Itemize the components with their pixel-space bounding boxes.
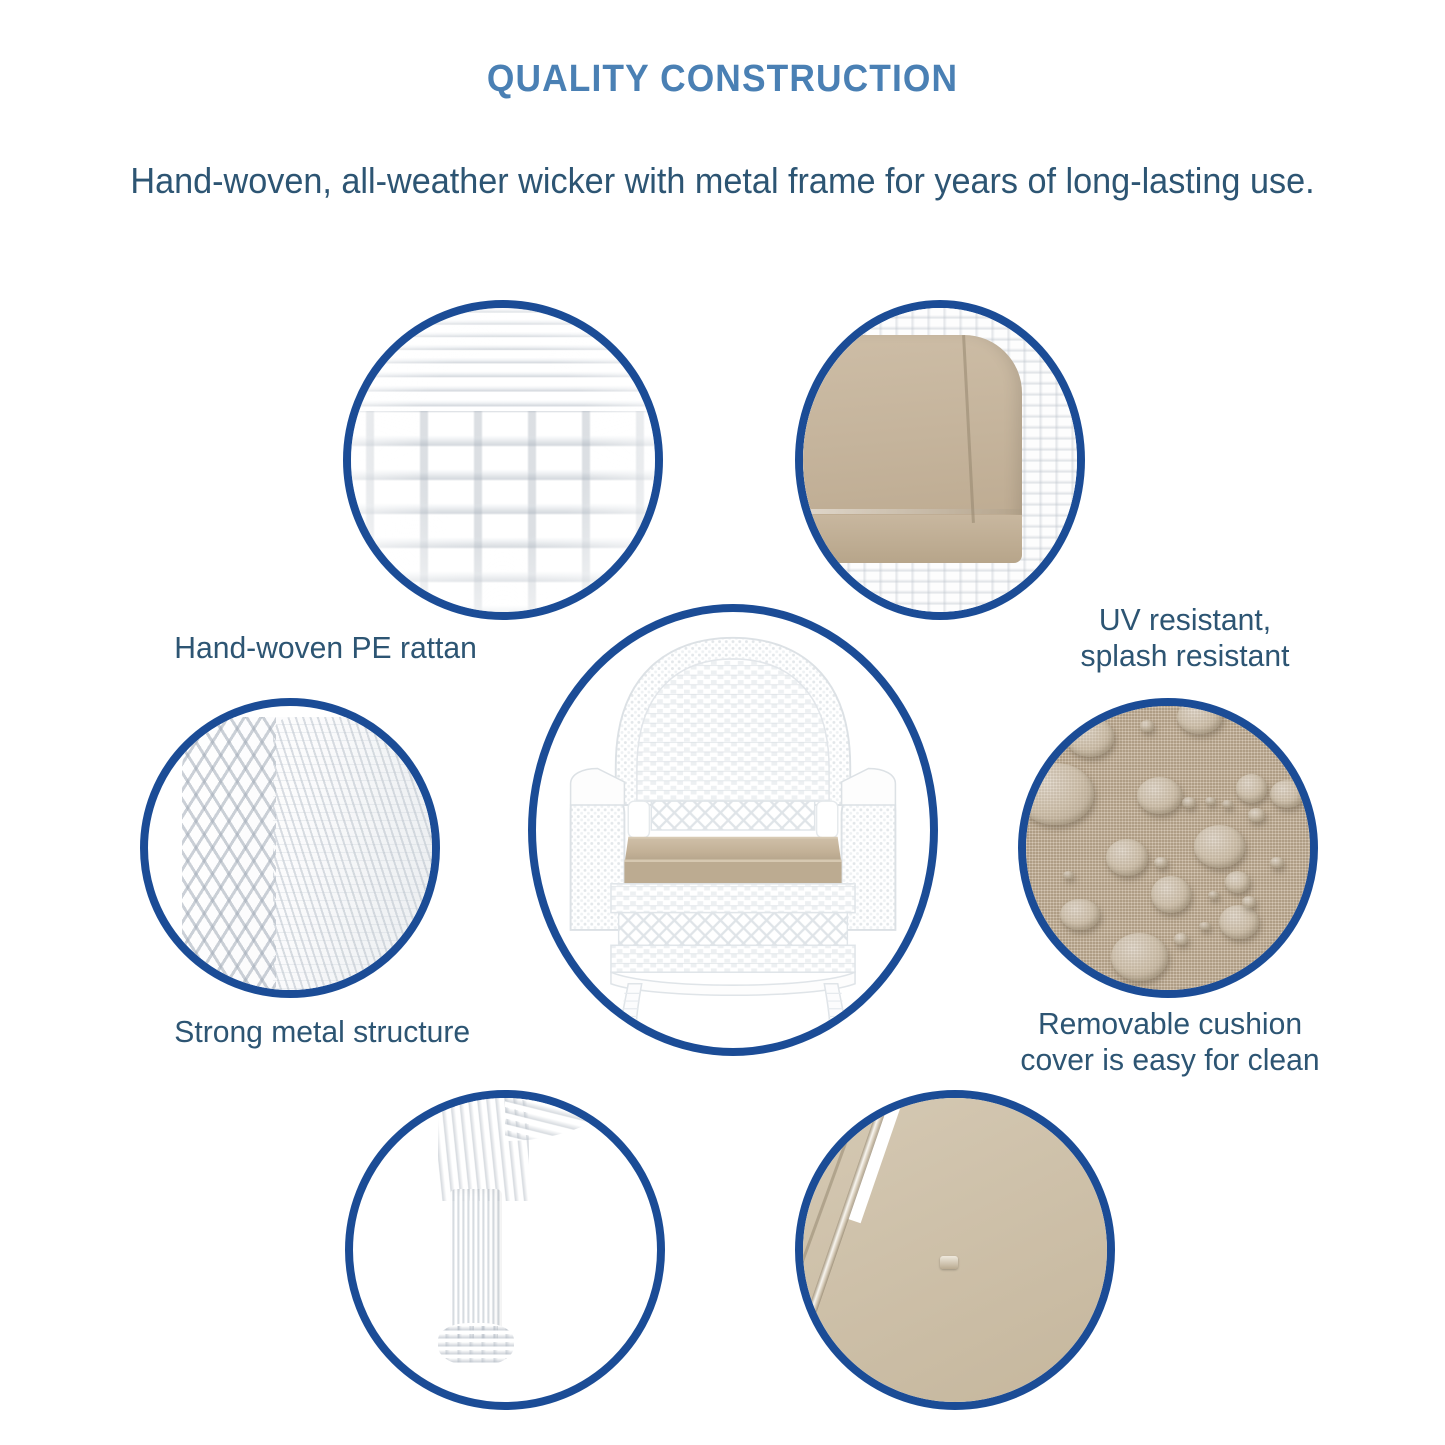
cushion-closeup [803, 308, 1077, 612]
chair-leg-closeup [353, 1098, 657, 1402]
wicker-open-lattice [182, 717, 276, 990]
caption-uv-splash-resistant: UV resistant, splash resistant [1035, 602, 1336, 674]
water-droplet [1174, 933, 1188, 944]
water-droplet [1208, 891, 1219, 900]
caption-removable-cushion-cover: Removable cushion cover is easy for clea… [995, 1006, 1344, 1078]
metal-structure-closeup [148, 706, 432, 990]
wicker-armchair-svg [536, 612, 930, 1048]
water-droplet [1194, 825, 1245, 868]
water-droplet [1199, 922, 1210, 931]
cushion-cover-fabric [803, 1098, 1107, 1402]
leg-wrapped-shaft [450, 1189, 502, 1341]
page-title: QUALITY CONSTRUCTION [51, 58, 1395, 101]
zipper-pull-icon [940, 1256, 958, 1269]
water-droplet [1154, 857, 1168, 868]
feature-image-hand-woven-pe-rattan [343, 300, 663, 620]
leg-flare-weave [505, 1098, 639, 1141]
water-droplet [1060, 899, 1100, 930]
water-droplet [1137, 777, 1182, 814]
water-droplet [1248, 808, 1265, 822]
water-droplet [1219, 905, 1259, 939]
cushion-pad-side [803, 515, 1022, 564]
wicker-fine-weave [273, 717, 432, 990]
water-droplets-closeup [1026, 706, 1310, 990]
cushion-piping [803, 509, 1022, 514]
caption-strong-metal-structure: Strong metal structure [174, 1014, 581, 1050]
feature-image-chair-leg-detail [345, 1090, 665, 1410]
feature-image-product-hero [528, 604, 938, 1056]
feature-image-removable-cushion-cover [1018, 698, 1318, 998]
feature-image-uv-splash-resistant [795, 300, 1085, 620]
leg-woven-foot [438, 1323, 514, 1366]
chair-illustration [536, 612, 930, 1048]
page-subtitle: Hand-woven, all-weather wicker with meta… [36, 160, 1409, 202]
caption-hand-woven-pe-rattan: Hand-woven PE rattan [174, 630, 581, 666]
water-droplet [1140, 720, 1154, 731]
water-droplet [1151, 876, 1191, 913]
zipper-closeup [803, 1098, 1107, 1402]
feature-image-strong-metal-structure [140, 698, 440, 998]
rattan-vignette [351, 308, 655, 612]
feature-image-cushion-zipper-detail [795, 1090, 1115, 1410]
fabric-weave-background [1026, 706, 1310, 990]
infographic-page: QUALITY CONSTRUCTION Hand-woven, all-wea… [0, 0, 1445, 1445]
water-droplet [1242, 896, 1256, 907]
rattan-weave-texture [351, 308, 655, 612]
water-droplet [1236, 774, 1267, 802]
water-droplet [1066, 717, 1114, 757]
